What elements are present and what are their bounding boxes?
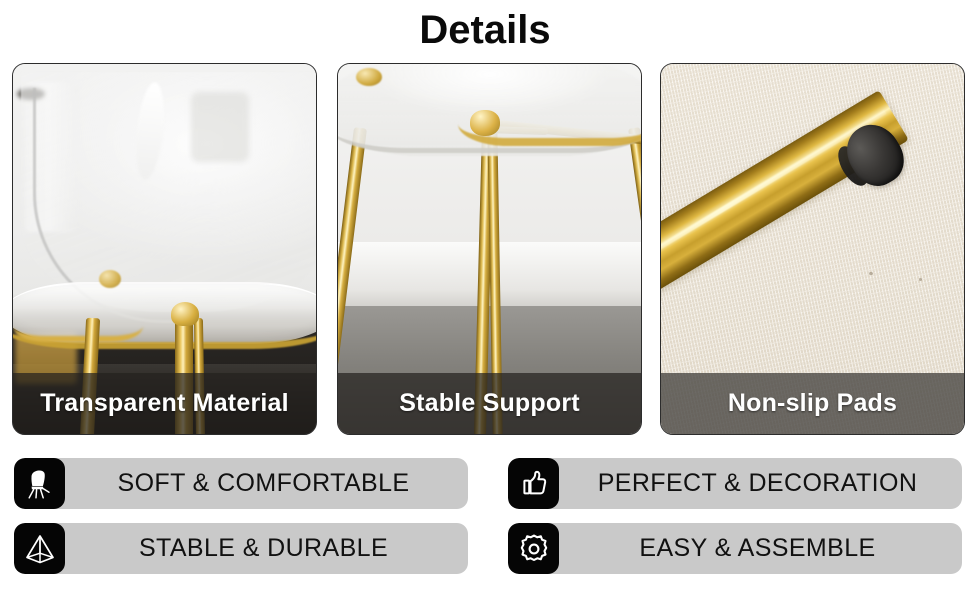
panel-caption-band: Transparent Material [13,373,316,434]
feature-perfect-decoration: PERFECT & DECORATION [508,458,962,509]
carpet-speck [919,278,922,281]
feature-label: EASY & ASSEMBLE [559,534,962,563]
gold-screw-knob-top [356,68,382,86]
panel-caption-band: Non-slip Pads [661,373,964,434]
gold-screw-knob-center [171,302,199,326]
acrylic-reflection [191,92,249,162]
gear-icon [508,523,559,574]
detail-panel-non-slip-pads: Non-slip Pads [660,63,965,435]
panel-caption-text: Transparent Material [40,389,289,418]
carpet-speck [869,272,873,275]
feature-label: STABLE & DURABLE [65,534,468,563]
chair-icon [14,458,65,509]
details-infographic: Details Transparent Material [0,0,970,600]
detail-panel-transparent-material: Transparent Material [12,63,317,435]
page-title: Details [0,4,970,56]
panel-caption-band: Stable Support [338,373,641,434]
thumbs-up-icon [508,458,559,509]
feature-label: PERFECT & DECORATION [559,469,962,498]
gold-screw-knob-left [99,270,121,288]
panel-caption-text: Non-slip Pads [728,389,897,418]
gold-frame-rim-secondary [13,310,143,342]
gold-joint-knob [470,110,500,136]
feature-easy-assemble: EASY & ASSEMBLE [508,523,962,574]
panel-caption-text: Stable Support [399,389,580,418]
feature-label: SOFT & COMFORTABLE [65,469,468,498]
feature-stable-durable: STABLE & DURABLE [14,523,468,574]
detail-panel-stable-support: Stable Support [337,63,642,435]
feature-soft-comfortable: SOFT & COMFORTABLE [14,458,468,509]
pyramid-icon [14,523,65,574]
